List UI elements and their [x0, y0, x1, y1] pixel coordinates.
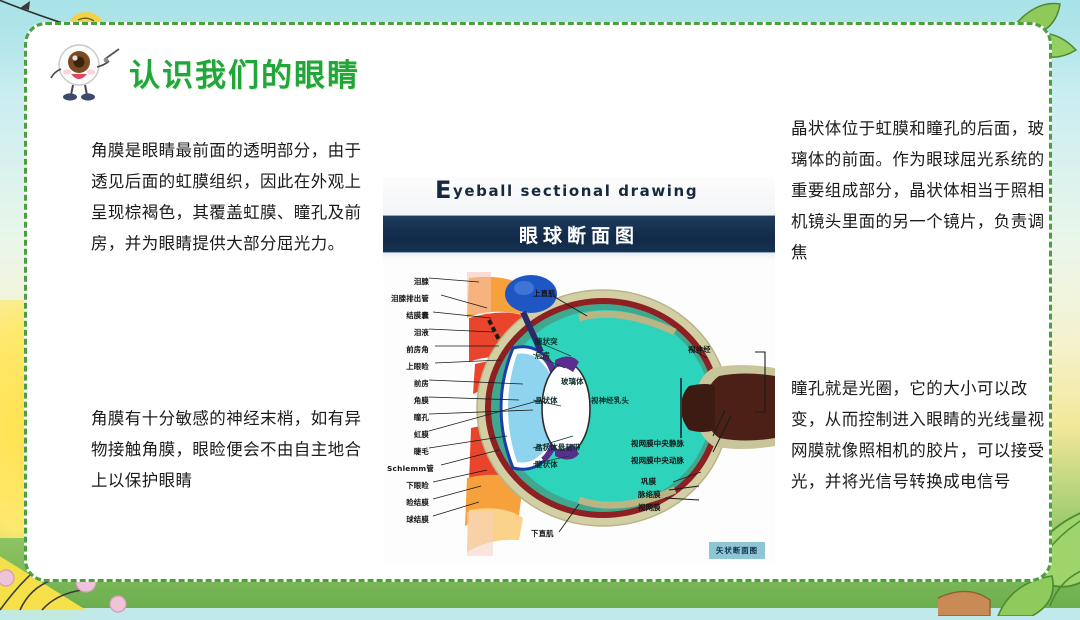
diagram-badge: 矢状断面图	[709, 542, 765, 559]
diagram-title-banner: 眼球断面图	[383, 215, 775, 253]
diagram-label: 视神经	[688, 344, 711, 355]
diagram-label: 脉络膜	[638, 489, 661, 500]
diagram-label: 瞳孔	[387, 412, 429, 423]
diagram-label: 球结膜	[387, 514, 429, 525]
diagram-label: 视网膜中央动脉	[631, 455, 684, 466]
diagram-label: 视网膜	[638, 502, 661, 513]
diagram-label: 结膜囊	[387, 310, 429, 321]
diagram-header-english: Eyeball sectional drawing	[383, 177, 775, 215]
text-block-cornea-description: 角膜是眼睛最前面的透明部分，由于透见后面的虹膜组织，因此在外观上呈现棕褐色，其覆…	[91, 135, 373, 259]
diagram-label: 晶状体悬韧带	[535, 442, 581, 453]
diagram-label: 下眼睑	[387, 480, 429, 491]
diagram-label: 后房	[535, 350, 550, 361]
diagram-title-rest: yeball sectional drawing	[453, 182, 698, 200]
content-card: 认识我们的眼睛 角膜是眼睛最前面的透明部分，由于透见后面的虹膜组织，因此在外观上…	[24, 22, 1052, 582]
diagram-label: 上眼睑	[387, 361, 429, 372]
diagram-banner-underline	[383, 253, 775, 260]
diagram-label: 泪液	[387, 327, 429, 338]
page-header: 认识我们的眼睛	[49, 41, 360, 103]
diagram-title-en: Eyeball sectional drawing	[435, 182, 698, 200]
diagram-label: 泪腺排出管	[387, 293, 429, 304]
eye-cross-section-illustration	[383, 260, 775, 563]
text-block-cornea-nerves: 角膜有十分敏感的神经末梢，如有异物接触角膜，眼睑便会不由自主地合上以保护眼睛	[91, 403, 373, 496]
eyeball-mascot-icon	[49, 41, 121, 103]
diagram-title-initial: E	[435, 177, 453, 204]
text-block-pupil-retina: 瞳孔就是光圈，它的大小可以改变，从而控制进入眼睛的光线量视网膜就像照相机的胶片，…	[791, 373, 1061, 497]
diagram-label: 角膜	[387, 395, 429, 406]
eyeball-sectional-diagram: Eyeball sectional drawing 眼球断面图	[383, 177, 775, 563]
diagram-label: 视网膜中央静脉	[631, 438, 684, 449]
diagram-label: 前房角	[387, 344, 429, 355]
diagram-label: 视神经乳头	[591, 395, 629, 406]
text-block-lens-description: 晶状体位于虹膜和瞳孔的后面，玻璃体的前面。作为眼球屈光系统的重要组成部分，晶状体…	[791, 113, 1061, 268]
diagram-label: 玻璃体	[561, 376, 584, 387]
diagram-label: 虹膜	[387, 429, 429, 440]
diagram-label: 睫状突	[535, 336, 558, 347]
diagram-label: 晶状体	[535, 395, 558, 406]
diagram-label: 睫毛	[387, 446, 429, 457]
diagram-label: Schlemm管	[387, 463, 429, 474]
diagram-label: 前房	[387, 378, 429, 389]
diagram-label: 巩膜	[641, 476, 656, 487]
diagram-label: 睑结膜	[387, 497, 429, 508]
page-title: 认识我们的眼睛	[129, 50, 360, 95]
diagram-title-cn: 眼球断面图	[519, 221, 639, 248]
diagram-label: 睫状体	[535, 459, 558, 470]
diagram-label: 泪腺	[387, 276, 429, 287]
diagram-label: 下直肌	[531, 528, 554, 539]
diagram-canvas: 泪腺泪腺排出管结膜囊泪液前房角上眼睑前房角膜瞳孔虹膜睫毛Schlemm管下眼睑睑…	[383, 260, 775, 563]
diagram-label: 上直肌	[533, 288, 556, 299]
